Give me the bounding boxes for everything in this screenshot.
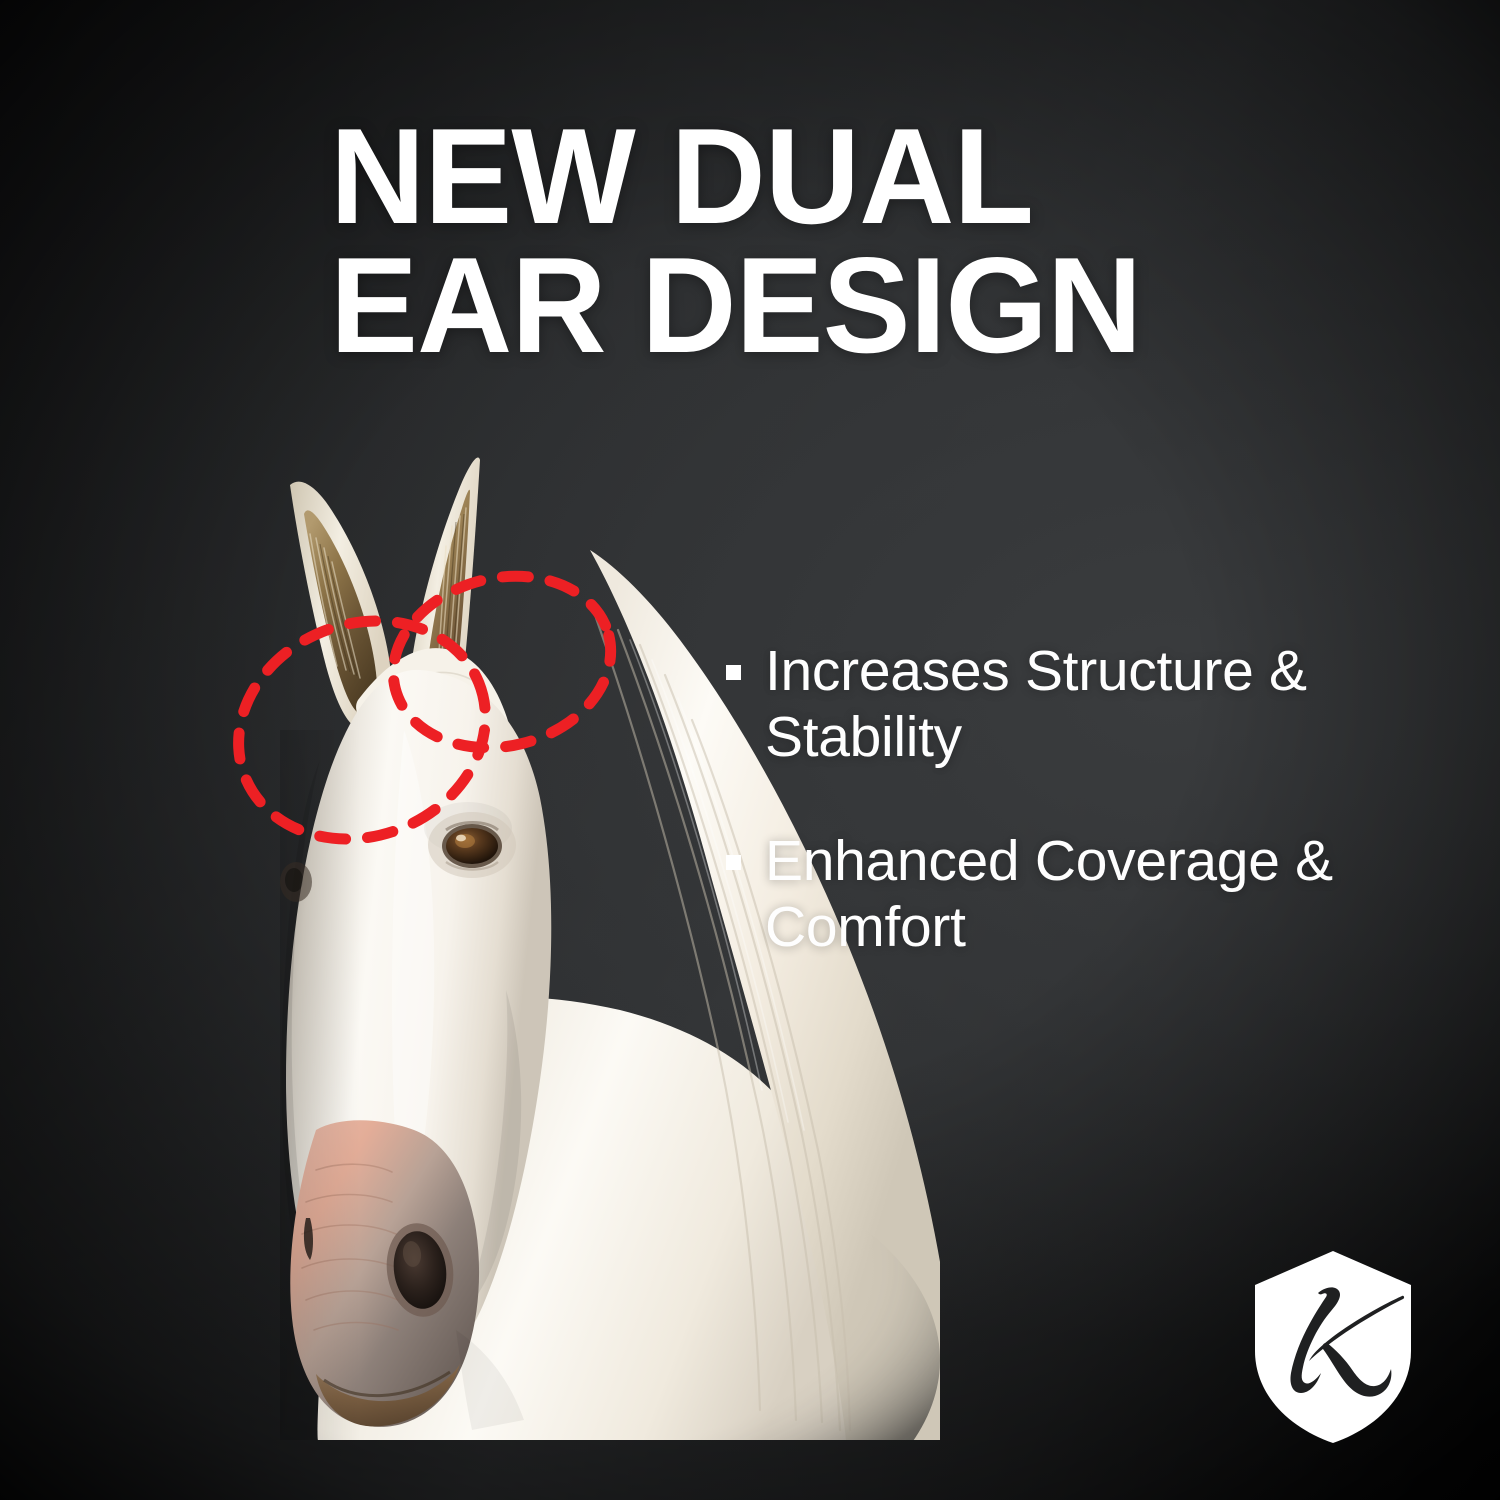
- brand-logo: [1243, 1247, 1423, 1447]
- benefits-list: Increases Structure & Stability Enhanced…: [726, 638, 1416, 960]
- list-item: Enhanced Coverage & Comfort: [726, 828, 1416, 960]
- square-bullet-icon: [726, 855, 741, 870]
- benefit-label-1: Increases Structure & Stability: [765, 638, 1416, 770]
- benefit-label-2: Enhanced Coverage & Comfort: [765, 828, 1416, 960]
- shield-icon: [1255, 1251, 1411, 1443]
- square-bullet-icon: [726, 665, 741, 680]
- page-title: NEW DUAL EAR DESIGN: [330, 112, 1300, 370]
- ad-canvas: NEW DUAL EAR DESIGN: [0, 0, 1500, 1500]
- headline-line-1: NEW DUAL: [330, 112, 1300, 241]
- headline-line-2: EAR DESIGN: [330, 241, 1300, 370]
- list-item: Increases Structure & Stability: [726, 638, 1416, 770]
